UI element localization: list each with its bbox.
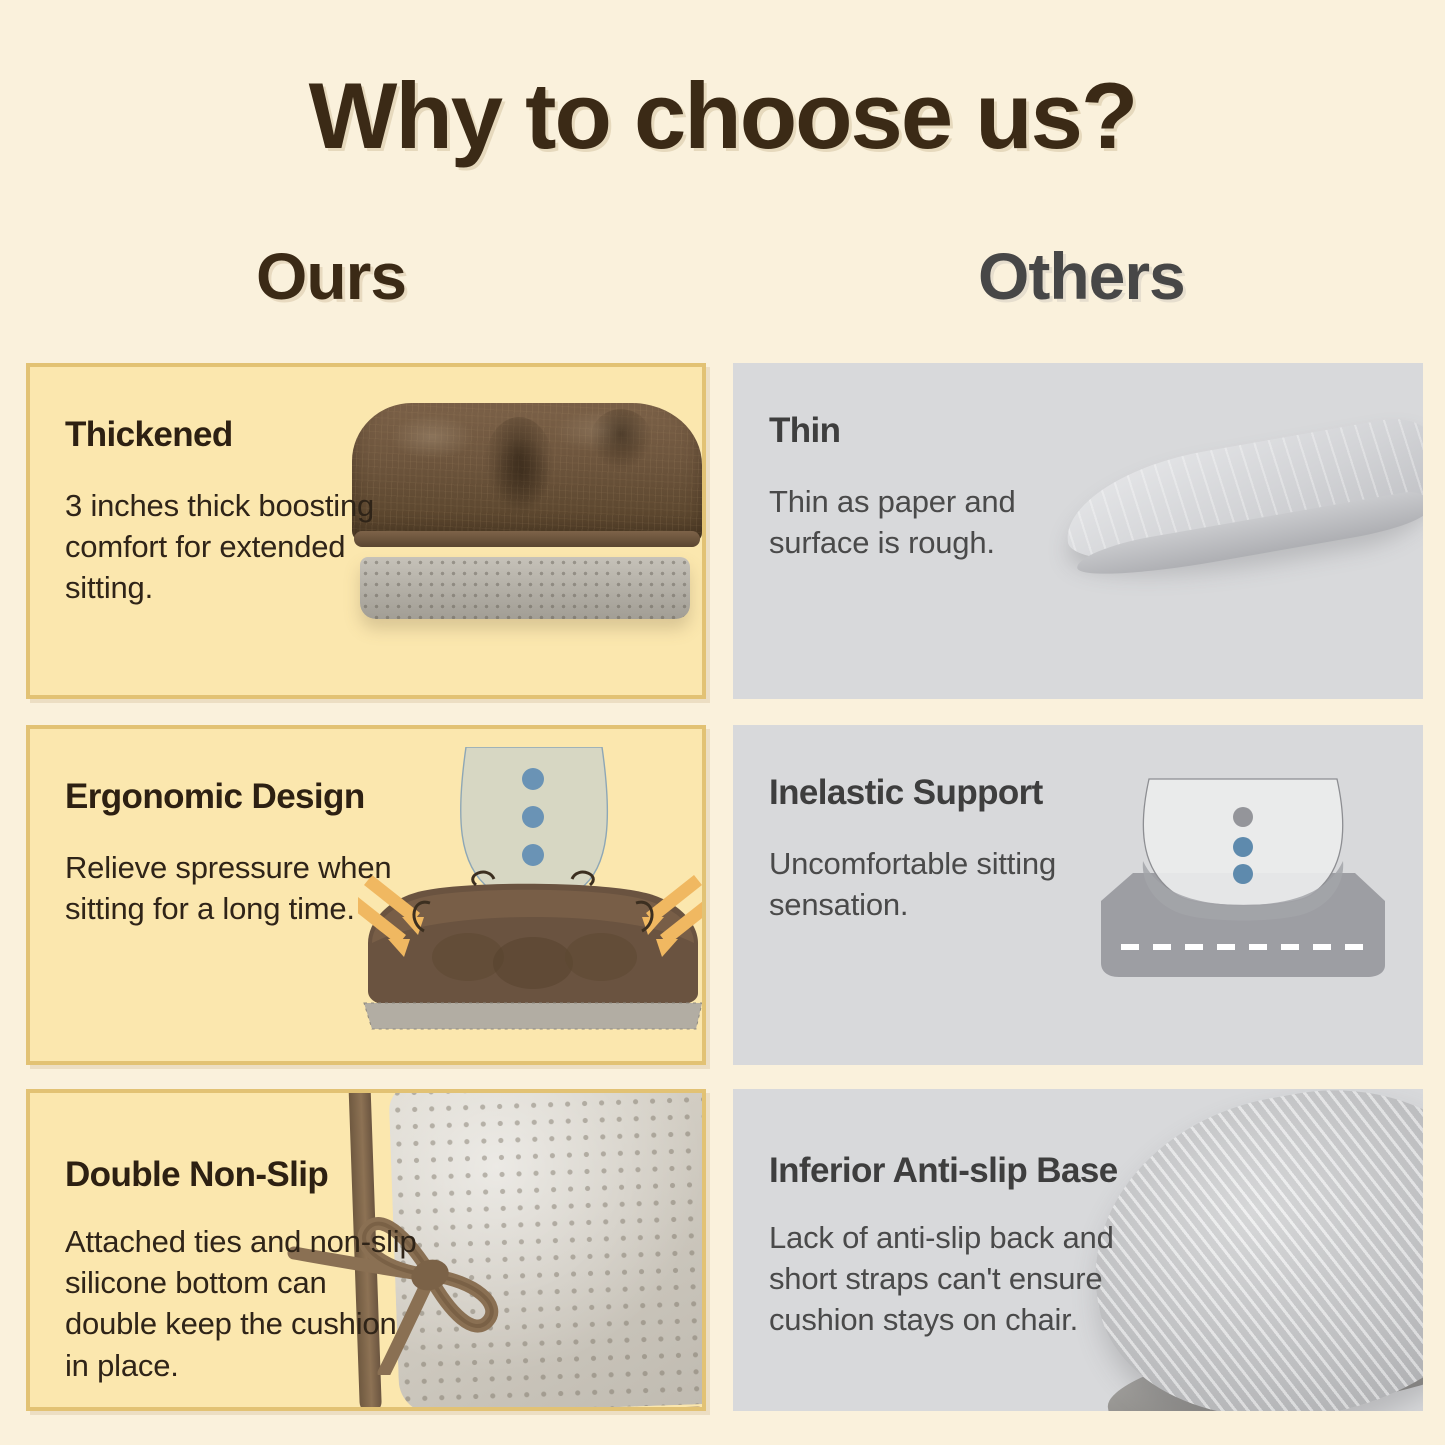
card-text-block: Double Non-Slip Attached ties and non-sl… bbox=[65, 1155, 425, 1386]
card-body: Lack of anti-slip back and short straps … bbox=[769, 1217, 1129, 1341]
thick-cushion-illustration bbox=[352, 395, 706, 625]
pressure-dot-icon bbox=[522, 806, 544, 828]
silicone-base-strip bbox=[364, 1003, 702, 1029]
card-title: Double Non-Slip bbox=[65, 1155, 425, 1195]
card-body: Uncomfortable sitting sensation. bbox=[769, 843, 1099, 925]
card-body: Attached ties and non-slip silicone bott… bbox=[65, 1221, 425, 1386]
comparison-card-ours-nonslip: Double Non-Slip Attached ties and non-sl… bbox=[26, 1089, 706, 1411]
thin-pad-illustration bbox=[1067, 423, 1423, 613]
comparison-card-others-thin: Thin Thin as paper and surface is rough. bbox=[733, 363, 1423, 699]
pressure-dot-icon bbox=[1233, 807, 1253, 827]
pressure-dot-icon bbox=[522, 844, 544, 866]
fabric-piping-bottom bbox=[358, 1406, 706, 1411]
comparison-card-ours-ergonomic: Ergonomic Design Relieve spressure when … bbox=[26, 725, 706, 1065]
cushion-seam bbox=[354, 531, 700, 547]
tuft-dimple-icon bbox=[484, 417, 554, 517]
pressure-dot-icon bbox=[522, 768, 544, 790]
column-header-others: Others bbox=[978, 238, 1185, 314]
comparison-card-others-inelastic: Inelastic Support Uncomfortable sitting … bbox=[733, 725, 1423, 1065]
comparison-card-others-inferior-base: Inferior Anti-slip Base Lack of anti-sli… bbox=[733, 1089, 1423, 1411]
inelastic-support-illustration bbox=[1093, 769, 1393, 1009]
pressure-dot-icon bbox=[1233, 837, 1253, 857]
tuft-dimple-icon bbox=[590, 409, 652, 471]
card-text-block: Thickened 3 inches thick boosting comfor… bbox=[65, 415, 395, 609]
card-text-block: Ergonomic Design Relieve spressure when … bbox=[65, 777, 395, 929]
card-body: Relieve spressure when sitting for a lon… bbox=[65, 847, 395, 929]
card-text-block: Inferior Anti-slip Base Lack of anti-sli… bbox=[769, 1151, 1129, 1341]
card-text-block: Inelastic Support Uncomfortable sitting … bbox=[769, 773, 1099, 925]
tuft-dimple-icon bbox=[565, 933, 637, 981]
card-text-block: Thin Thin as paper and surface is rough. bbox=[769, 411, 1099, 563]
ergonomic-pressure-illustration bbox=[358, 747, 706, 1047]
pressure-dot-icon bbox=[1233, 864, 1253, 884]
card-title: Ergonomic Design bbox=[65, 777, 395, 817]
card-title: Inferior Anti-slip Base bbox=[769, 1151, 1129, 1191]
tuft-dimple-icon bbox=[432, 933, 504, 981]
card-body: Thin as paper and surface is rough. bbox=[769, 481, 1099, 563]
tuft-dimple-icon bbox=[493, 937, 573, 989]
silicone-dotted-base bbox=[360, 557, 690, 619]
round-grey-cushion-illustration bbox=[1093, 1095, 1423, 1411]
brown-tufted-top bbox=[352, 403, 702, 543]
column-header-ours: Ours bbox=[256, 238, 406, 314]
comparison-card-ours-thickened: Thickened 3 inches thick boosting comfor… bbox=[26, 363, 706, 699]
card-body: 3 inches thick boosting comfort for exte… bbox=[65, 485, 395, 609]
card-title: Inelastic Support bbox=[769, 773, 1099, 813]
card-title: Thickened bbox=[65, 415, 395, 455]
card-title: Thin bbox=[769, 411, 1099, 451]
page-title: Why to choose us? bbox=[0, 62, 1445, 170]
